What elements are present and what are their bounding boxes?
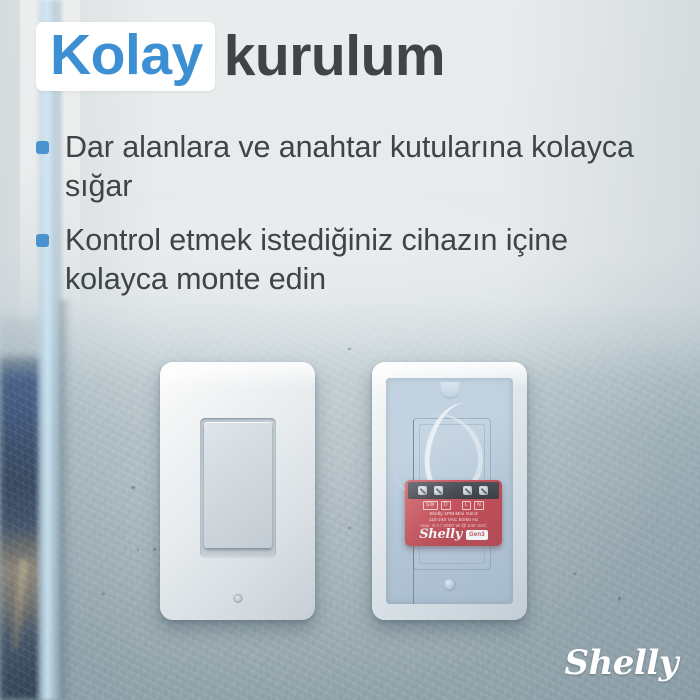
bullet-square-icon bbox=[36, 141, 49, 154]
plate-screw-icon bbox=[233, 594, 242, 603]
wall-lighting-overlay bbox=[0, 0, 700, 700]
terminal-labels: SW O L N bbox=[405, 501, 502, 510]
page-title: Kolay kurulum bbox=[36, 22, 445, 91]
bullet-text: Dar alanlara ve anahtar kutularına kolay… bbox=[65, 128, 645, 207]
terminal-screw-icon bbox=[418, 486, 427, 495]
bullet-text: Kontrol etmek istediğiniz cihazın içine … bbox=[65, 221, 645, 300]
mounting-nub bbox=[440, 382, 460, 399]
wall-speck bbox=[137, 549, 139, 551]
wall-speck bbox=[618, 597, 621, 600]
feature-bullet-list: Dar alanlara ve anahtar kutularına kolay… bbox=[36, 128, 656, 313]
brand-watermark: Shelly bbox=[565, 646, 679, 680]
rocker-recess bbox=[200, 418, 276, 558]
shelly-relay-module: SW O L N Shelly 1PM Mini Gen3 110-240 VA… bbox=[405, 480, 502, 546]
wall-speck bbox=[153, 548, 156, 551]
list-item: Dar alanlara ve anahtar kutularına kolay… bbox=[36, 128, 656, 207]
wall-speck bbox=[573, 573, 576, 575]
terminal-label-o: O bbox=[441, 501, 451, 510]
terminal-label-sw: SW bbox=[423, 501, 438, 510]
terminal-block bbox=[408, 482, 499, 499]
list-item: Kontrol etmek istediğiniz cihazın içine … bbox=[36, 221, 656, 300]
bullet-square-icon bbox=[36, 234, 49, 247]
terminal-group-left: SW O bbox=[423, 501, 451, 510]
headline-rest: kurulum bbox=[224, 28, 445, 85]
wall-switch-plate-left bbox=[160, 362, 315, 620]
wall-switch-plate-right-xray: SW O L N Shelly 1PM Mini Gen3 110-240 VA… bbox=[372, 362, 527, 620]
wall-corner-shadow bbox=[60, 300, 72, 700]
xray-cutaway-window: SW O L N Shelly 1PM Mini Gen3 110-240 VA… bbox=[386, 378, 513, 604]
terminal-label-l: L bbox=[462, 501, 471, 510]
wall-corner-edge bbox=[36, 0, 62, 700]
wall-speck bbox=[348, 348, 351, 350]
wall-speck bbox=[102, 593, 105, 595]
device-branding: Shelly Gen3 bbox=[405, 528, 502, 541]
terminal-group-right: L N bbox=[462, 501, 484, 510]
wall-speck bbox=[348, 527, 351, 529]
ghost-bottom-screw-icon bbox=[443, 578, 456, 591]
terminal-screw-icon bbox=[479, 486, 488, 495]
headline-highlight: Kolay bbox=[36, 22, 215, 91]
generation-badge: Gen3 bbox=[466, 530, 488, 540]
terminal-screw-icon bbox=[463, 486, 472, 495]
terminal-screw-icon bbox=[434, 486, 443, 495]
terminal-label-n: N bbox=[474, 501, 484, 510]
promo-poster: Kolay kurulum Dar alanlara ve anahtar ku… bbox=[0, 0, 700, 700]
shelly-logo: Shelly bbox=[419, 528, 462, 541]
wall-speck bbox=[131, 486, 135, 489]
rocker-switch-paddle bbox=[204, 422, 272, 548]
